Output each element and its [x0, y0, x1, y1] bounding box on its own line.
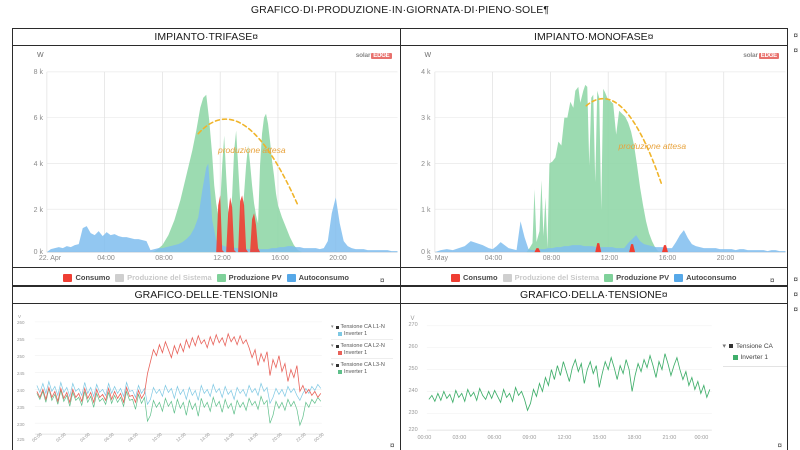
legend-item-produzione-sistema-monofase[interactable]: Produzione del Sistema	[503, 273, 600, 282]
annotation-produzione-attesa-trifase: produzione attesa	[218, 145, 286, 155]
chart-produzione-trifase[interactable]: solarEDGE W 8 k 6 k 4 k 2 k 0 k	[13, 46, 400, 267]
top-table: IMPIANTO·TRIFASE¤ IMPIANTO·MONOFASE¤ sol…	[12, 28, 788, 286]
area-produzione-pv-trifase	[47, 95, 398, 252]
chart-grafico-delle-tensioni[interactable]: V 260 255 250 245 240 235 230 225 00:00 …	[13, 304, 400, 450]
ytick-tensioni-6: 230	[17, 422, 25, 427]
legend-child-inverter1-label: Inverter 1	[741, 354, 768, 361]
xtick-tensione-8: 00:00	[695, 435, 709, 441]
legend-dot-l1	[336, 326, 339, 329]
ytick-tensioni-0: 260	[17, 320, 25, 325]
xtick-trifase-0: 22. Apr	[27, 255, 73, 262]
bottom-header-row: GRAFICO·DELLE·TENSIONI¤ GRAFICO·DELLA·TE…	[13, 287, 788, 304]
xtick-tensione-2: 06:00	[488, 435, 502, 441]
legend-group-l1-label: Tensione CA L1-N	[341, 324, 385, 330]
xtick-tensione-4: 12:00	[558, 435, 572, 441]
cell-tensione-chart: V 270 260 250 240 230 220 00:00 03:00 06…	[400, 304, 788, 450]
legend-group-l3-label: Tensione CA L3-N	[341, 362, 385, 368]
legend-item-produzione-pv-monofase[interactable]: Produzione PV	[604, 273, 669, 282]
xtick-trifase-1: 04:00	[83, 255, 129, 262]
legend-swatch-autoconsumo-m	[674, 274, 683, 282]
trifase-plot-svg	[13, 46, 400, 267]
bottom-table: GRAFICO·DELLE·TENSIONI¤ GRAFICO·DELLA·TE…	[12, 286, 788, 450]
legend-dot-l2	[336, 345, 339, 348]
chevron-down-icon-4[interactable]: ▾	[723, 342, 727, 350]
legend-swatch-produzione-sistema-m	[503, 274, 512, 282]
xtick-monofase-2: 08:00	[529, 255, 575, 262]
cell-mark-tensioni: ¤	[390, 442, 394, 450]
area-produzione-pv-monofase	[434, 85, 785, 252]
xtick-monofase-0: 9. May	[415, 255, 461, 262]
legend-dot-l3	[336, 364, 339, 367]
legend-child-l1[interactable]: Inverter 1	[331, 331, 393, 337]
legend-label-consumo: Consumo	[75, 273, 110, 282]
bottom-chart-row: V 260 255 250 245 240 235 230 225 00:00 …	[13, 304, 788, 450]
legend-tensione: ▾ Tensione CA Inverter 1	[723, 342, 788, 367]
xtick-monofase-4: 16:00	[645, 255, 691, 262]
legend-label-autoconsumo: Autoconsumo	[299, 273, 349, 282]
cell-mark-tensione: ¤	[778, 442, 782, 450]
legend-swatch-l2	[338, 351, 342, 355]
top-chart-row: solarEDGE W 8 k 6 k 4 k 2 k 0 k	[13, 46, 788, 268]
legend-group-l2-label: Tensione CA L2-N	[341, 343, 385, 349]
legend-group-l3[interactable]: ▾ Tensione CA L3-N Inverter 1	[331, 362, 393, 377]
document-page: GRAFICO·DI·PRODUZIONE·IN·GIORNATA·DI·PIE…	[0, 0, 800, 450]
xtick-tensione-6: 18:00	[628, 435, 642, 441]
legend-trifase: Consumo Produzione del Sistema Produzion…	[13, 270, 400, 282]
legend-group-l1[interactable]: ▾ Tensione CA L1-N Inverter 1	[331, 324, 393, 340]
legend-child-l3[interactable]: Inverter 1	[331, 369, 393, 375]
anchor-mark-top-right: ¤	[770, 277, 774, 285]
ytick-tensioni-1: 255	[17, 337, 25, 342]
legend-monofase: Consumo Produzione del Sistema Produzion…	[401, 270, 788, 282]
legend-tensioni: ▾ Tensione CA L1-N Inverter 1 ▾	[331, 324, 393, 380]
header-impianto-trifase: IMPIANTO·TRIFASE¤	[13, 29, 401, 46]
legend-swatch-inverter1	[733, 355, 738, 360]
ytick-tensione-270: 270	[409, 322, 418, 328]
xtick-tensione-0: 00:00	[418, 435, 432, 441]
chevron-down-icon-2[interactable]: ▾	[331, 343, 334, 349]
cell-tensioni-chart: V 260 255 250 245 240 235 230 225 00:00 …	[13, 304, 401, 450]
edge-mark-2: ¤	[794, 47, 798, 55]
edge-mark-4: ¤	[794, 291, 798, 299]
legend-item-produzione-sistema-trifase[interactable]: Produzione del Sistema	[115, 273, 212, 282]
xtick-tensione-3: 09:00	[523, 435, 537, 441]
legend-group-l3-header[interactable]: ▾ Tensione CA L3-N	[331, 362, 393, 368]
xtick-trifase-2: 08:00	[141, 255, 187, 262]
legend-group-tensione-ca[interactable]: ▾ Tensione CA	[723, 342, 788, 350]
ytick-tensione-240: 240	[409, 388, 418, 394]
ytick-tensioni-3: 245	[17, 371, 25, 376]
legend-label-produzione-sistema-m: Produzione del Sistema	[515, 273, 600, 282]
legend-child-l3-label: Inverter 1	[344, 369, 367, 375]
legend-item-autoconsumo-trifase[interactable]: Autoconsumo	[287, 273, 349, 282]
xtick-tensione-7: 21:00	[663, 435, 677, 441]
ytick-tensioni-5: 235	[17, 405, 25, 410]
legend-swatch-consumo-m	[451, 274, 460, 282]
cell-monofase-chart: solarEDGE W 4 k 3 k 2 k 1 k 0 k	[400, 46, 788, 268]
legend-label-produzione-sistema: Produzione del Sistema	[127, 273, 212, 282]
legend-label-autoconsumo-m: Autoconsumo	[686, 273, 736, 282]
header-grafico-della-tensione: GRAFICO·DELLA·TENSIONE¤	[400, 287, 788, 304]
legend-item-consumo-monofase[interactable]: Consumo	[451, 273, 498, 282]
xtick-trifase-4: 16:00	[257, 255, 303, 262]
annotation-produzione-attesa-monofase: produzione attesa	[619, 141, 687, 151]
edge-mark-5: ¤	[794, 306, 798, 314]
page-title: GRAFICO·DI·PRODUZIONE·IN·GIORNATA·DI·PIE…	[0, 4, 800, 16]
xtick-trifase-3: 12:00	[199, 255, 245, 262]
legend-divider	[723, 366, 788, 367]
chart-grafico-della-tensione[interactable]: V 270 260 250 240 230 220 00:00 03:00 06…	[401, 304, 788, 450]
ytick-tensione-220: 220	[409, 427, 418, 433]
cell-trifase-chart: solarEDGE W 8 k 6 k 4 k 2 k 0 k	[13, 46, 401, 268]
chart-produzione-monofase[interactable]: solarEDGE W 4 k 3 k 2 k 1 k 0 k	[401, 46, 788, 267]
edge-mark-1: ¤	[794, 32, 798, 40]
y-axis-unit-tensioni: V	[18, 314, 21, 319]
legend-group-l2[interactable]: ▾ Tensione CA L2-N Inverter 1	[331, 343, 393, 359]
xtick-monofase-1: 04:00	[471, 255, 517, 262]
legend-item-autoconsumo-monofase[interactable]: Autoconsumo	[674, 273, 736, 282]
legend-child-inverter1[interactable]: Inverter 1	[723, 354, 788, 361]
xtick-monofase-5: 20:00	[703, 255, 749, 262]
header-impianto-monofase: IMPIANTO·MONOFASE¤	[400, 29, 788, 46]
xtick-tensione-1: 03:00	[453, 435, 467, 441]
edge-mark-3: ¤	[794, 276, 798, 284]
cell-legend-monofase: Consumo Produzione del Sistema Produzion…	[400, 268, 788, 286]
ytick-tensione-250: 250	[409, 366, 418, 372]
legend-child-l1-label: Inverter 1	[344, 331, 367, 337]
top-legend-row: Consumo Produzione del Sistema Produzion…	[13, 268, 788, 286]
legend-swatch-l3	[338, 370, 342, 374]
legend-swatch-produzione-pv	[217, 274, 226, 282]
cell-legend-trifase: Consumo Produzione del Sistema Produzion…	[13, 268, 401, 286]
legend-swatch-produzione-sistema	[115, 274, 124, 282]
header-grafico-delle-tensioni: GRAFICO·DELLE·TENSIONI¤	[13, 287, 401, 304]
tensione-plot-svg	[401, 304, 788, 450]
legend-child-l2[interactable]: Inverter 1	[331, 350, 393, 356]
legend-child-l2-label: Inverter 1	[344, 350, 367, 356]
legend-label-produzione-pv-m: Produzione PV	[616, 273, 669, 282]
legend-group-tensione-ca-label: Tensione CA	[736, 343, 773, 350]
ytick-tensione-260: 260	[409, 344, 418, 350]
monofase-plot-svg	[401, 46, 788, 267]
xtick-tensione-5: 15:00	[593, 435, 607, 441]
legend-label-produzione-pv: Produzione PV	[229, 273, 282, 282]
chevron-down-icon[interactable]: ▾	[331, 324, 334, 330]
legend-item-consumo-trifase[interactable]: Consumo	[63, 273, 110, 282]
legend-group-l2-header[interactable]: ▾ Tensione CA L2-N	[331, 343, 393, 349]
legend-swatch-autoconsumo	[287, 274, 296, 282]
anchor-mark-top: ¤	[380, 277, 384, 285]
top-header-row: IMPIANTO·TRIFASE¤ IMPIANTO·MONOFASE¤	[13, 29, 788, 46]
xtick-monofase-3: 12:00	[587, 255, 633, 262]
xtick-trifase-5: 20:00	[315, 255, 361, 262]
ytick-tensioni-7: 225	[17, 437, 25, 442]
ytick-tensioni-2: 250	[17, 354, 25, 359]
ytick-tensione-230: 230	[409, 410, 418, 416]
legend-item-produzione-pv-trifase[interactable]: Produzione PV	[217, 273, 282, 282]
legend-swatch-consumo	[63, 274, 72, 282]
legend-group-l1-header[interactable]: ▾ Tensione CA L1-N	[331, 324, 393, 330]
chevron-down-icon-3[interactable]: ▾	[331, 362, 334, 368]
legend-label-consumo-m: Consumo	[463, 273, 498, 282]
legend-swatch-produzione-pv-m	[604, 274, 613, 282]
ytick-tensioni-4: 240	[17, 388, 25, 393]
legend-swatch-l1	[338, 332, 342, 336]
legend-dot-tensione-ca	[729, 344, 733, 348]
